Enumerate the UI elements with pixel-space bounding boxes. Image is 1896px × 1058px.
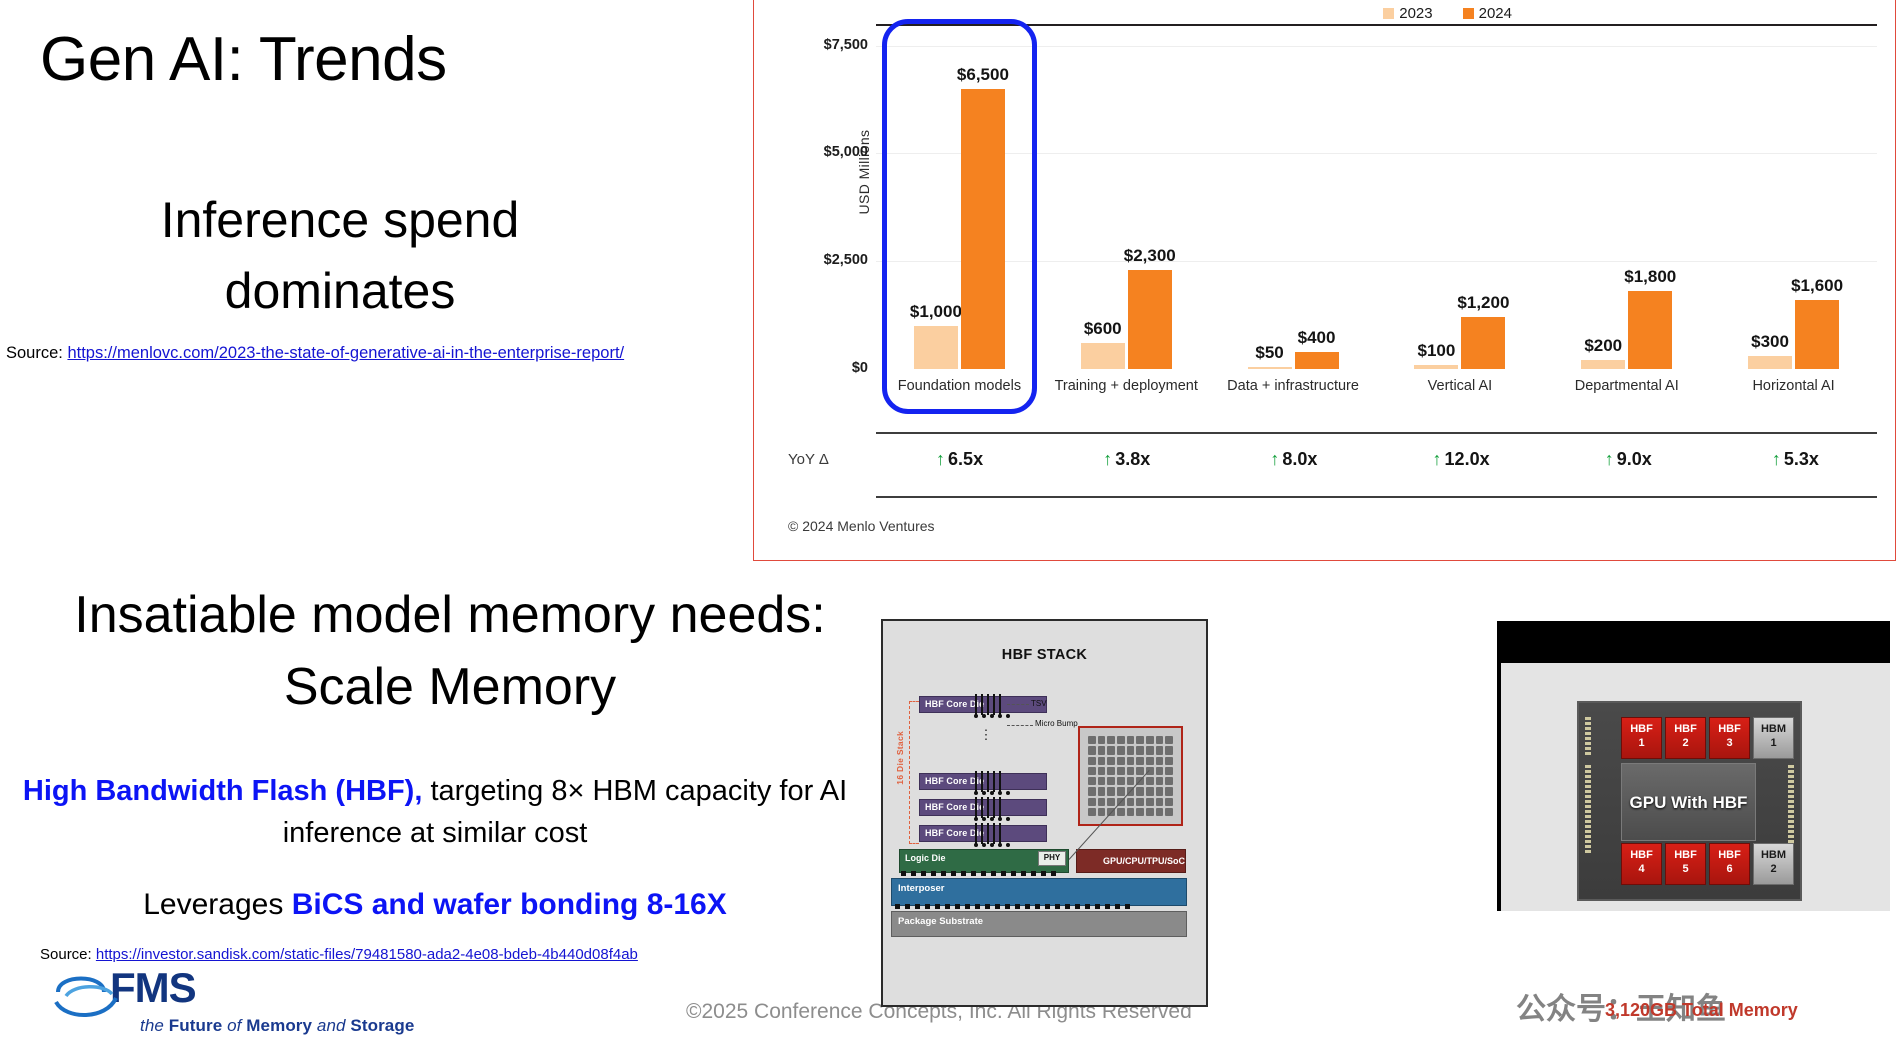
leverages-line: Leverages BiCS and wafer bonding 8-16X bbox=[20, 888, 850, 922]
memory-chip-hbm-2: HBM2 bbox=[1753, 843, 1794, 885]
bar-value-label: $100 bbox=[1417, 341, 1455, 361]
chart-legend: 2023 2024 bbox=[1383, 5, 1512, 22]
bar-value-label: $1,800 bbox=[1624, 267, 1676, 287]
yoy-value: ↑8.0x bbox=[1210, 449, 1377, 470]
bar-group: $300$1,600Horizontal AI bbox=[1710, 24, 1877, 369]
y-axis-title: USD Millions bbox=[856, 92, 872, 252]
bar-value-label: $2,300 bbox=[1124, 246, 1176, 266]
bar-group: $50$400Data + infrastructure bbox=[1210, 24, 1377, 369]
tsv-pins bbox=[975, 771, 1001, 792]
memory-chip-hbf-1: HBF1 bbox=[1621, 717, 1662, 759]
interposer-solder bbox=[895, 904, 1130, 909]
chip-name: HBM bbox=[1754, 849, 1793, 863]
sandisk-source-link[interactable]: https://investor.sandisk.com/static-file… bbox=[96, 946, 638, 963]
hbf-stack-diagram: HBF STACK HBF Core Die TSV Micro Bump ⋮ … bbox=[881, 619, 1208, 1007]
yoy-value: ↑5.3x bbox=[1712, 449, 1879, 470]
tsv-leader bbox=[1007, 704, 1029, 705]
bar-value-label: $600 bbox=[1084, 319, 1122, 339]
highlight-box-foundation-models bbox=[882, 19, 1037, 414]
bump-leader bbox=[1007, 725, 1033, 726]
leverages-prefix: Leverages bbox=[143, 888, 291, 921]
page-title: Gen AI: Trends bbox=[40, 24, 447, 95]
chip-name: HBF bbox=[1622, 849, 1661, 863]
memory-chip-hbf-6: HBF6 bbox=[1709, 843, 1750, 885]
category-label: Data + infrastructure bbox=[1210, 378, 1377, 394]
legend-item-2023: 2023 bbox=[1383, 5, 1432, 22]
bar-2023: $50 bbox=[1248, 367, 1292, 369]
bar-value-label: $50 bbox=[1255, 343, 1283, 363]
up-arrow-icon: ↑ bbox=[1605, 449, 1614, 469]
legend-item-2024: 2024 bbox=[1463, 5, 1512, 22]
menlo-source-link[interactable]: https://menlovc.com/2023-the-state-of-ge… bbox=[67, 344, 624, 362]
gpu-photo-inner: HBF1HBF2HBF3HBM1 GPU With HBF HBF4HBF5HB… bbox=[1501, 663, 1890, 911]
y-tick-label: $2,500 bbox=[810, 252, 868, 268]
menlo-chart-panel: 2023 2024 USD Millions $0$2,500$5,000$7,… bbox=[753, 0, 1896, 561]
gpu-substrate: HBF1HBF2HBF3HBM1 GPU With HBF HBF4HBF5HB… bbox=[1577, 701, 1802, 901]
yoy-value: ↑9.0x bbox=[1545, 449, 1712, 470]
yoy-row-label: YoY Δ bbox=[788, 451, 829, 468]
tsv-label: TSV bbox=[1031, 699, 1047, 708]
bar-2023: $600 bbox=[1081, 343, 1125, 369]
subtitle: Inference spend dominates bbox=[60, 185, 620, 327]
legend-swatch-2024 bbox=[1463, 8, 1474, 19]
stack-brace-label: 16 Die Stack bbox=[895, 731, 905, 785]
total-memory-label: 3,120GB Total Memory bbox=[1605, 1000, 1798, 1021]
chip-name: HBF bbox=[1622, 723, 1661, 737]
die-zoom-callout bbox=[1078, 726, 1183, 826]
chart-credit: © 2024 Menlo Ventures bbox=[788, 518, 935, 534]
bar-group: $600$2,300Training + deployment bbox=[1043, 24, 1210, 369]
bar-group: $100$1,200Vertical AI bbox=[1377, 24, 1544, 369]
yoy-value: ↑6.5x bbox=[876, 449, 1043, 470]
memory-chip-hbf-3: HBF3 bbox=[1709, 717, 1750, 759]
tsv-pins bbox=[975, 797, 1001, 818]
micro-bumps bbox=[974, 791, 1010, 795]
yoy-multiplier: 9.0x bbox=[1617, 449, 1652, 469]
logic-die-solder bbox=[901, 871, 1056, 876]
yoy-multiplier: 6.5x bbox=[948, 449, 983, 469]
bar-2023: $200 bbox=[1581, 360, 1625, 369]
chip-name: HBF bbox=[1710, 723, 1749, 737]
bar-value-label: $200 bbox=[1584, 336, 1622, 356]
source2-prefix: Source: bbox=[40, 946, 96, 963]
yoy-value: ↑12.0x bbox=[1378, 449, 1545, 470]
bar-2024: $2,300 bbox=[1128, 270, 1172, 369]
bar-value-label: $400 bbox=[1298, 328, 1336, 348]
fms-tagline: the Future of Memory and Storage bbox=[140, 1016, 414, 1036]
tagline-of: of bbox=[222, 1016, 246, 1035]
bar-2024: $1,800 bbox=[1628, 291, 1672, 369]
chip-index: 1 bbox=[1754, 737, 1793, 751]
chip-name: HBF bbox=[1666, 849, 1705, 863]
tagline-the: the bbox=[140, 1016, 169, 1035]
tagline-storage: Storage bbox=[350, 1016, 414, 1035]
bar-value-label: $1,200 bbox=[1457, 293, 1509, 313]
yoy-multiplier: 3.8x bbox=[1115, 449, 1150, 469]
chip-index: 5 bbox=[1666, 863, 1705, 877]
legend-label-2024: 2024 bbox=[1479, 5, 1512, 22]
source-prefix: Source: bbox=[6, 344, 67, 362]
yoy-rule-bottom bbox=[876, 496, 1877, 498]
chip-index: 6 bbox=[1710, 863, 1749, 877]
bar-2024: $1,200 bbox=[1461, 317, 1505, 369]
up-arrow-icon: ↑ bbox=[1270, 449, 1279, 469]
bar-2023: $100 bbox=[1414, 365, 1458, 369]
source-line-2: Source: https://investor.sandisk.com/sta… bbox=[40, 946, 740, 963]
category-label: Vertical AI bbox=[1377, 378, 1544, 394]
leverages-term: BiCS and wafer bonding 8-16X bbox=[292, 888, 727, 921]
yoy-multiplier: 8.0x bbox=[1282, 449, 1317, 469]
chip-index: 2 bbox=[1754, 863, 1793, 877]
chip-name: HBM bbox=[1754, 723, 1793, 737]
up-arrow-icon: ↑ bbox=[1433, 449, 1442, 469]
slide-root: Gen AI: Trends Inference spend dominates… bbox=[0, 0, 1896, 1058]
memory-chip-hbf-5: HBF5 bbox=[1665, 843, 1706, 885]
section-title-memory: Insatiable model memory needs: Scale Mem… bbox=[70, 580, 830, 724]
tagline-future: Future bbox=[169, 1016, 222, 1035]
interposer: Interposer bbox=[891, 878, 1187, 906]
source-line-1: Source: https://menlovc.com/2023-the-sta… bbox=[6, 342, 626, 364]
memory-chip-hbf-4: HBF4 bbox=[1621, 843, 1662, 885]
pad-column-left bbox=[1585, 717, 1591, 755]
chip-index: 2 bbox=[1666, 737, 1705, 751]
tagline-memory: Memory bbox=[246, 1016, 312, 1035]
memory-chip-hbf-2: HBF2 bbox=[1665, 717, 1706, 759]
bar-2023: $300 bbox=[1748, 356, 1792, 369]
y-tick-label: $7,500 bbox=[810, 37, 868, 53]
hbf-term: High Bandwidth Flash (HBF), bbox=[23, 775, 423, 807]
y-tick-label: $0 bbox=[810, 360, 868, 376]
bar-2024: $400 bbox=[1295, 352, 1339, 369]
svg-text:FMS: FMS bbox=[110, 964, 196, 1011]
hbf-stack-title: HBF STACK bbox=[883, 647, 1206, 663]
micro-bumps bbox=[974, 714, 1010, 718]
up-arrow-icon: ↑ bbox=[1103, 449, 1112, 469]
chip-index: 1 bbox=[1622, 737, 1661, 751]
chip-name: HBF bbox=[1666, 723, 1705, 737]
yoy-multiplier: 12.0x bbox=[1445, 449, 1490, 469]
bar-value-label: $300 bbox=[1751, 332, 1789, 352]
yoy-rule-top bbox=[876, 432, 1877, 434]
up-arrow-icon: ↑ bbox=[1772, 449, 1781, 469]
legend-swatch-2023 bbox=[1383, 8, 1394, 19]
chip-index: 4 bbox=[1622, 863, 1661, 877]
bar-group: $200$1,800Departmental AI bbox=[1543, 24, 1710, 369]
bump-array-grid bbox=[1088, 736, 1173, 816]
pad-column-right bbox=[1788, 765, 1794, 853]
stack-brace bbox=[909, 701, 919, 844]
gpu-package-photo: HBF1HBF2HBF3HBM1 GPU With HBF HBF4HBF5HB… bbox=[1497, 621, 1890, 911]
stack-ellipsis: ⋮ bbox=[979, 733, 993, 737]
bar-2024: $1,600 bbox=[1795, 300, 1839, 369]
legend-label-2023: 2023 bbox=[1399, 5, 1432, 22]
bar-value-label: $1,600 bbox=[1791, 276, 1843, 296]
micro-bumps bbox=[974, 817, 1010, 821]
tsv-pins bbox=[975, 823, 1001, 844]
yoy-multiplier: 5.3x bbox=[1784, 449, 1819, 469]
up-arrow-icon: ↑ bbox=[936, 449, 945, 469]
memory-chip-hbm-1: HBM1 bbox=[1753, 717, 1794, 759]
tsv-pins bbox=[975, 694, 1001, 715]
gpu-core-die: GPU With HBF bbox=[1621, 763, 1756, 841]
micro-bump-label: Micro Bump bbox=[1035, 719, 1078, 728]
phy-label-logic: PHY bbox=[1038, 851, 1066, 866]
micro-bumps bbox=[974, 843, 1010, 847]
y-tick-label: $5,000 bbox=[810, 144, 868, 160]
category-label: Training + deployment bbox=[1043, 378, 1210, 394]
soc-die: GPU/CPU/TPU/SoC Die bbox=[1076, 849, 1186, 873]
chip-name: HBF bbox=[1710, 849, 1749, 863]
yoy-value: ↑3.8x bbox=[1043, 449, 1210, 470]
tagline-and: and bbox=[312, 1016, 350, 1035]
category-label: Departmental AI bbox=[1543, 378, 1710, 394]
hbf-description: High Bandwidth Flash (HBF), targeting 8×… bbox=[20, 770, 850, 854]
pad-column-left bbox=[1585, 765, 1591, 853]
package-substrate: Package Substrate bbox=[891, 911, 1187, 937]
chip-index: 3 bbox=[1710, 737, 1749, 751]
category-label: Horizontal AI bbox=[1710, 378, 1877, 394]
